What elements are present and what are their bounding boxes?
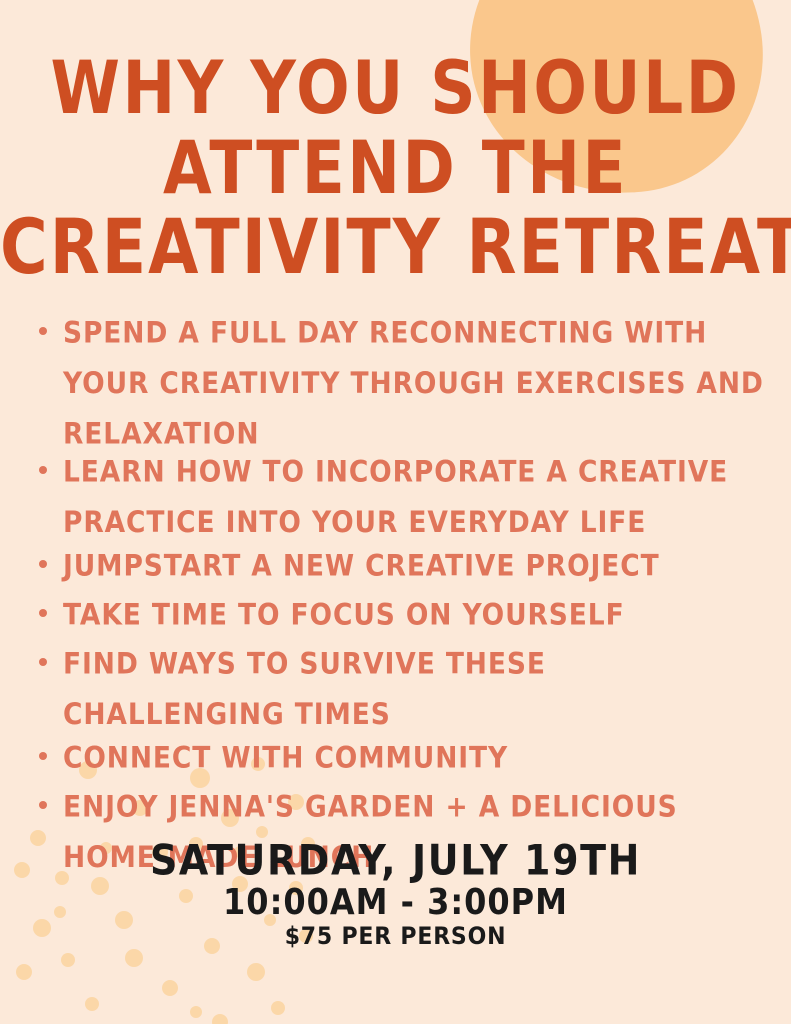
list-item: SPEND A FULL DAY RECONNECTING WITH YOUR …	[32, 308, 772, 443]
decorative-dot	[271, 1001, 285, 1015]
event-details: SATURDAY, JULY 19TH 10:00AM - 3:00PM $75…	[0, 836, 791, 952]
list-item-label: TAKE TIME TO FOCUS ON YOURSELF	[63, 590, 772, 640]
decorative-dot	[16, 964, 32, 980]
dot-bullet-icon	[39, 801, 47, 809]
list-item-label: CONNECT WITH COMMUNITY	[63, 733, 772, 783]
list-item: LEARN HOW TO INCORPORATE A CREATIVE PRAC…	[32, 447, 772, 537]
list-item-label: FIND WAYS TO SURVIVE THESE CHALLENGING T…	[63, 639, 772, 740]
dot-bullet-icon	[39, 609, 47, 617]
decorative-dot	[212, 1014, 228, 1024]
list-item: FIND WAYS TO SURVIVE THESE CHALLENGING T…	[32, 639, 772, 729]
title-line-3: CREATIVITY RETREAT	[0, 208, 791, 289]
decorative-dot	[85, 997, 99, 1011]
list-item-label: JUMPSTART A NEW CREATIVE PROJECT	[63, 541, 772, 591]
poster-canvas: WHY YOU SHOULD ATTEND THE CREATIVITY RET…	[0, 0, 791, 1024]
list-item: JUMPSTART A NEW CREATIVE PROJECT	[32, 541, 772, 586]
benefits-list: SPEND A FULL DAY RECONNECTING WITH YOUR …	[32, 308, 772, 876]
list-item: CONNECT WITH COMMUNITY	[32, 733, 772, 778]
dot-bullet-icon	[39, 327, 47, 335]
list-item-label: SPEND A FULL DAY RECONNECTING WITH YOUR …	[63, 308, 772, 459]
dot-bullet-icon	[39, 466, 47, 474]
page-title: WHY YOU SHOULD ATTEND THE CREATIVITY RET…	[0, 48, 791, 278]
title-line-2: ATTEND THE	[0, 128, 791, 209]
dot-bullet-icon	[39, 658, 47, 666]
decorative-dot	[190, 1006, 202, 1018]
event-price: $75 PER PERSON	[0, 920, 791, 955]
list-item-label: LEARN HOW TO INCORPORATE A CREATIVE PRAC…	[63, 447, 772, 548]
dot-bullet-icon	[39, 752, 47, 760]
decorative-dot	[247, 963, 265, 981]
event-date: SATURDAY, JULY 19TH	[0, 836, 791, 884]
decorative-dot	[162, 980, 178, 996]
event-time: 10:00AM - 3:00PM	[0, 880, 791, 924]
dot-bullet-icon	[39, 560, 47, 568]
title-line-1: WHY YOU SHOULD	[0, 48, 791, 129]
list-item: TAKE TIME TO FOCUS ON YOURSELF	[32, 590, 772, 635]
